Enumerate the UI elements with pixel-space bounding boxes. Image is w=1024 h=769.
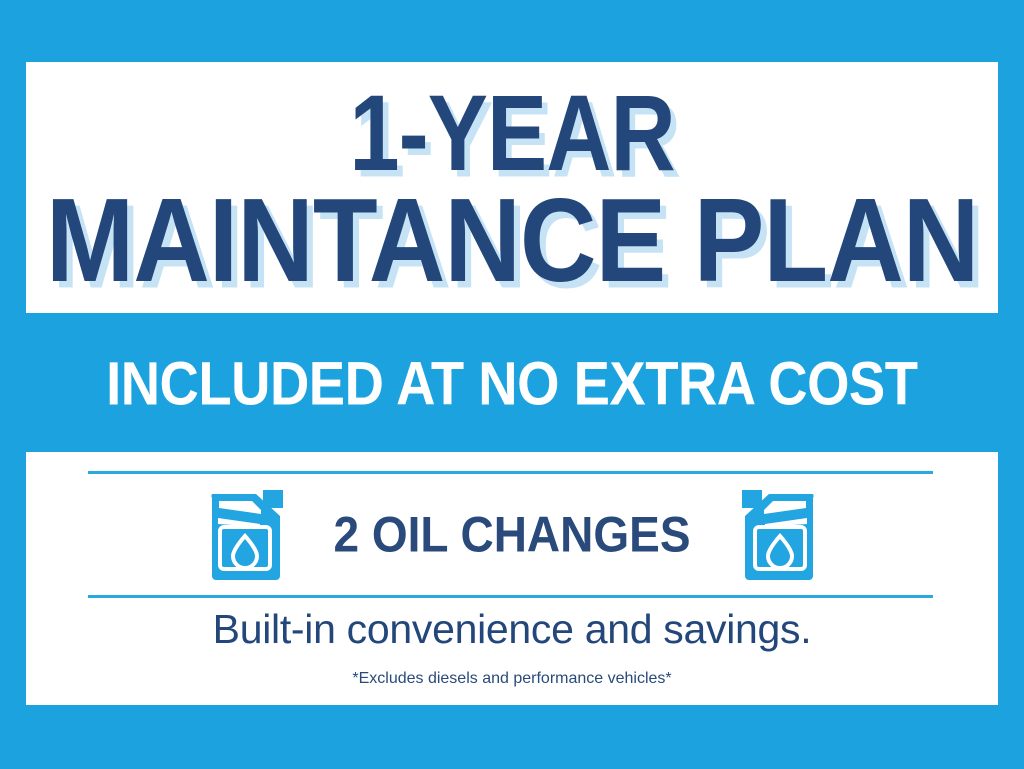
subtitle-band: INCLUDED AT NO EXTRA COST <box>26 313 998 452</box>
tagline-text: Built-in convenience and savings. <box>26 606 998 653</box>
divider-bottom <box>88 595 933 598</box>
oil-jug-icon <box>739 488 823 580</box>
disclaimer-text: *Excludes diesels and performance vehicl… <box>26 670 998 688</box>
benefit-row: 2 OIL CHANGES <box>26 478 998 590</box>
oil-jug-icon <box>202 488 286 580</box>
subtitle-text: INCLUDED AT NO EXTRA COST <box>106 347 917 419</box>
benefit-label: 2 OIL CHANGES <box>334 505 691 563</box>
title-panel: 1-YEAR MAINTANCE PLAN <box>26 62 998 313</box>
page-title-line-2: MAINTANCE PLAN <box>46 187 979 296</box>
benefit-panel: 2 OIL CHANGES Built-in convenience and s… <box>26 452 998 705</box>
promo-poster: 1-YEAR MAINTANCE PLAN INCLUDED AT NO EXT… <box>0 0 1024 769</box>
divider-top <box>88 471 933 474</box>
page-title-line-1: 1-YEAR <box>349 84 674 183</box>
